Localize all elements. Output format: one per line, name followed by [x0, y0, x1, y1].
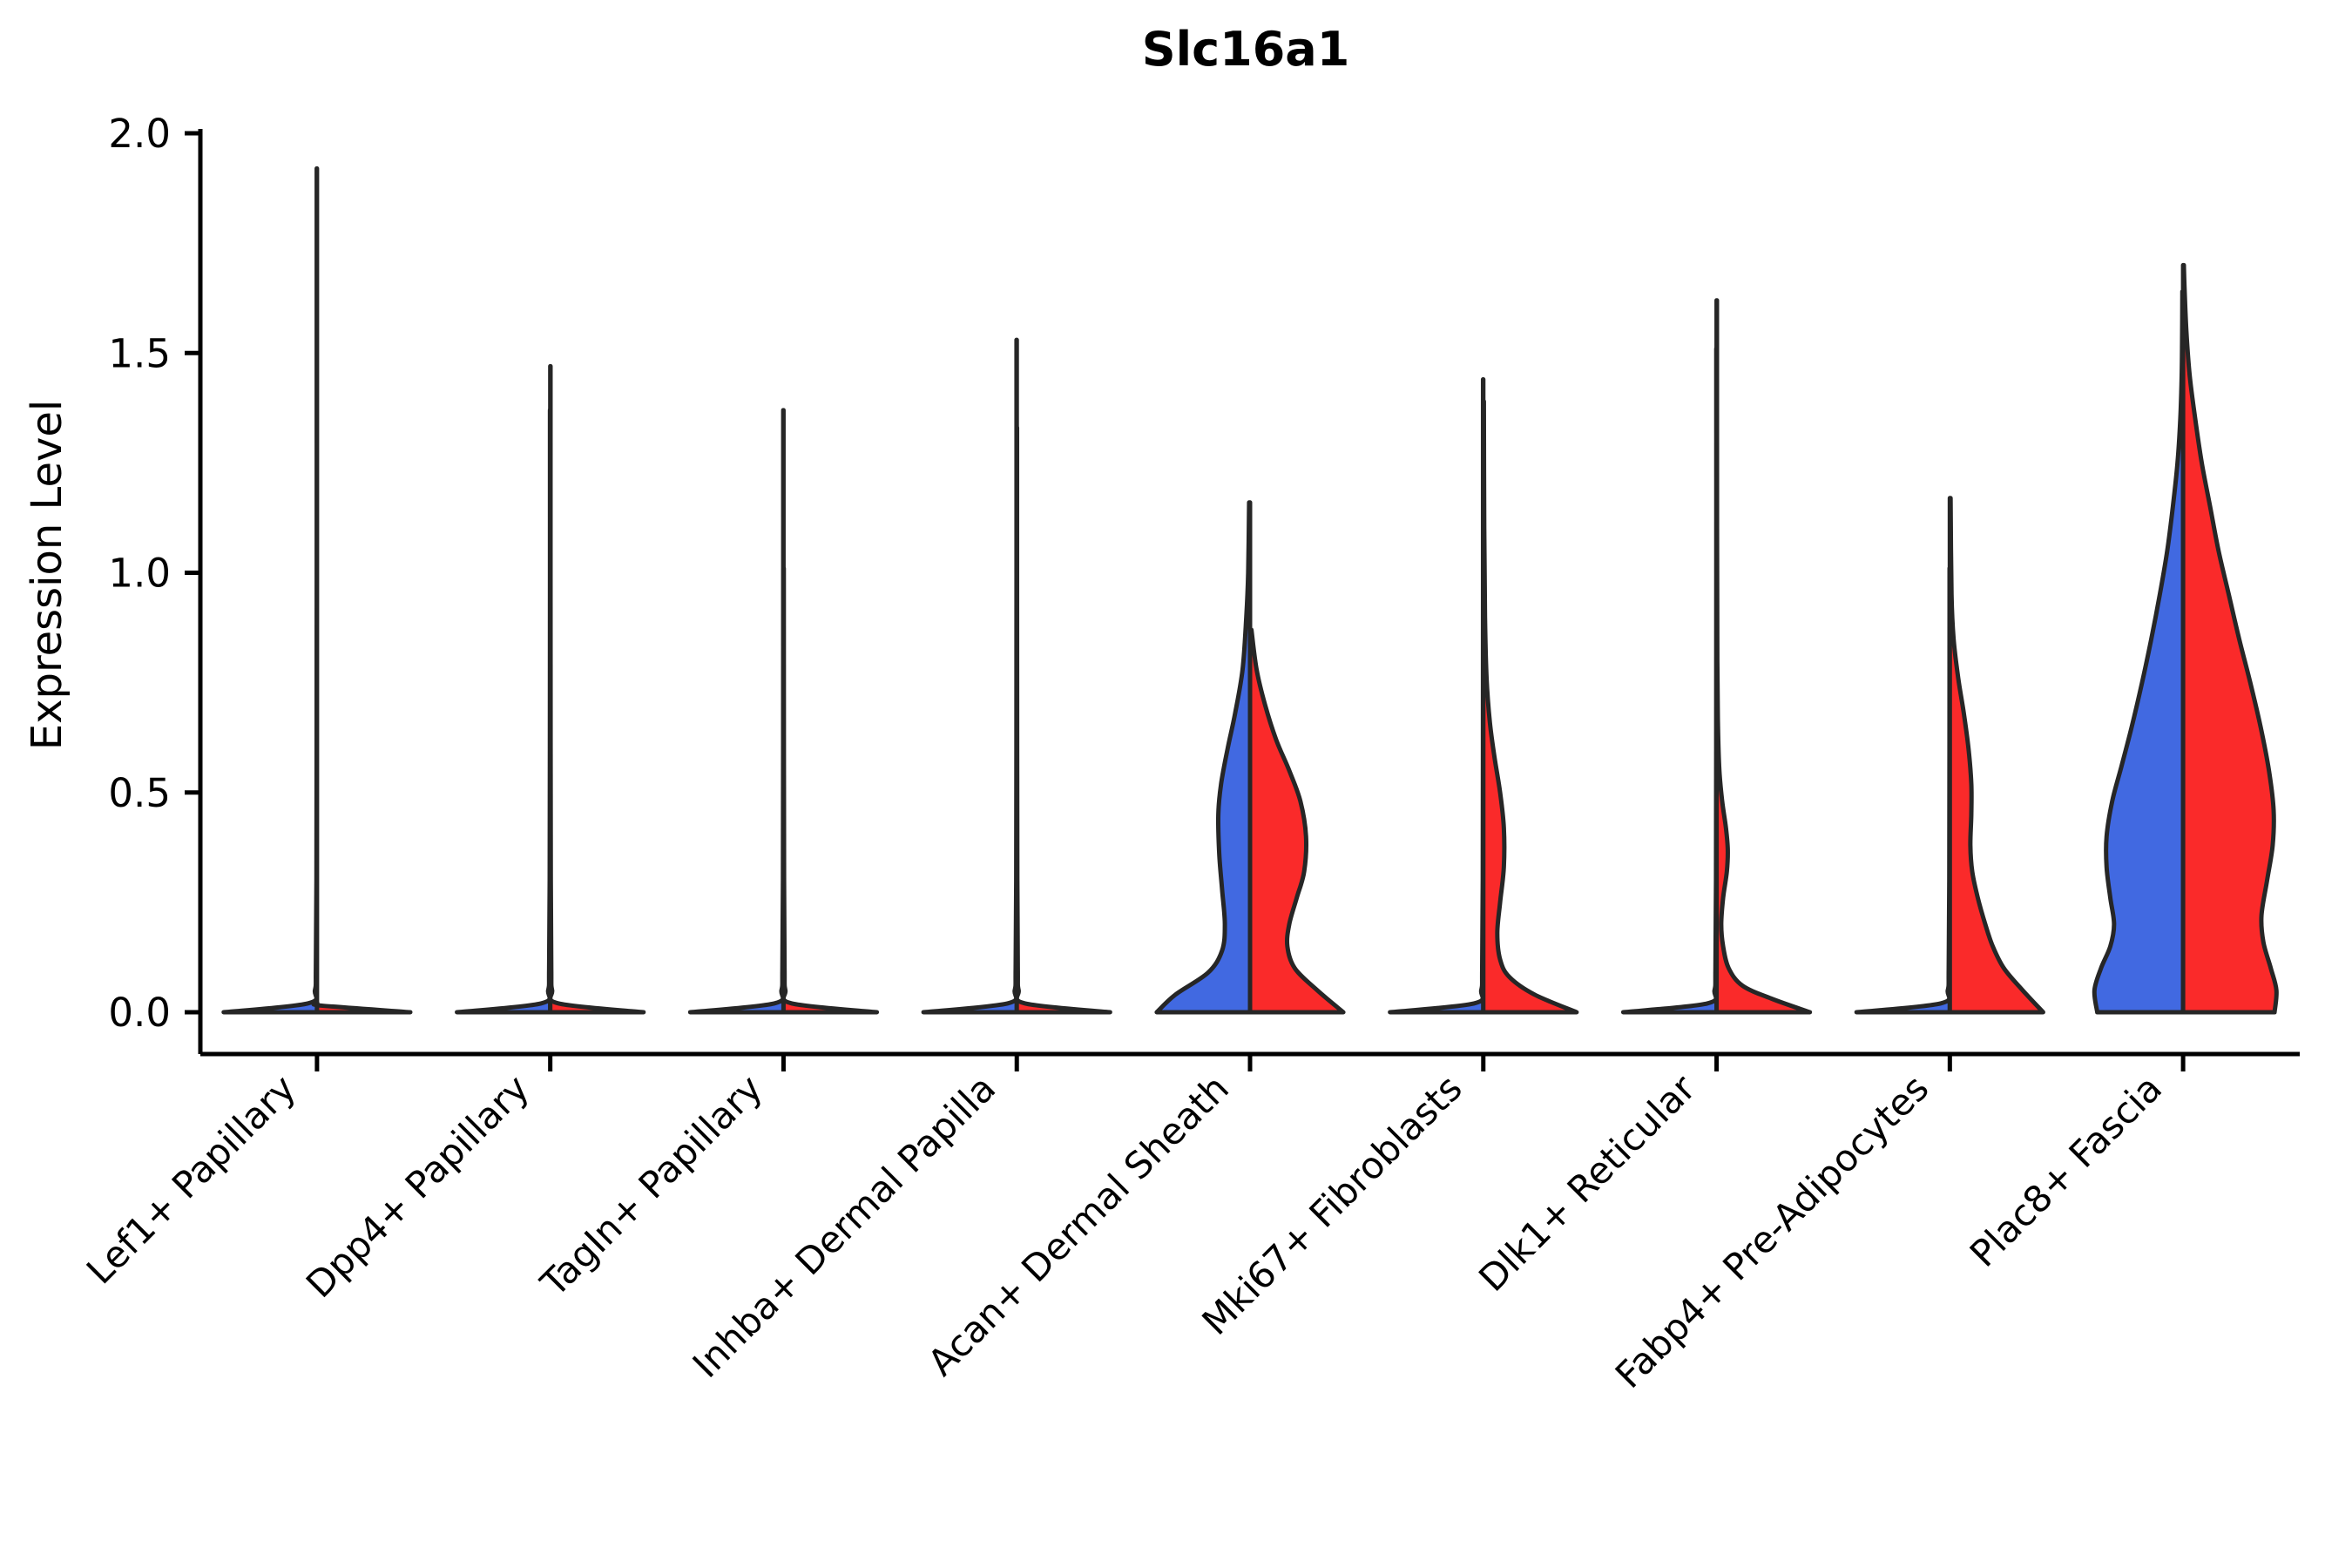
y-tick-label: 0.0 [108, 990, 171, 1036]
y-tick-label: 1.0 [108, 551, 171, 597]
y-axis-label: Expression Level [23, 400, 71, 751]
violin-shape [550, 366, 643, 1012]
violin-shape [1717, 301, 1810, 1012]
violin-shape [224, 168, 317, 1012]
x-tick-label: Dlk1+ Reticular [1470, 1066, 1704, 1300]
violin-shape [1484, 402, 1577, 1012]
y-axis-ticks: 0.00.51.01.52.0 [108, 111, 200, 1036]
violin-shape [1950, 498, 2043, 1012]
y-tick-label: 2.0 [108, 111, 171, 157]
violin-plot-canvas: Slc16a1 Expression Level 0.00.51.01.52.0… [0, 0, 2352, 1568]
chart-title: Slc16a1 [1142, 22, 1350, 77]
violin-plot-figure: Slc16a1 Expression Level 0.00.51.01.52.0… [0, 0, 2352, 1568]
violin-shape [1390, 380, 1484, 1012]
violin-shape [1856, 568, 1950, 1012]
x-tick-label: Lef1+ Papillary [78, 1066, 304, 1292]
x-tick-label: TagIn+ Papillary [532, 1066, 771, 1305]
violin-shape [1250, 630, 1343, 1012]
violin-shape [2183, 265, 2276, 1012]
violin-shape [314, 1004, 410, 1012]
violin-shape [1017, 428, 1110, 1012]
x-tick-label: Mki67+ Fibroblasts [1193, 1066, 1470, 1342]
violin-shape [923, 340, 1017, 1012]
violin-shape [1623, 348, 1716, 1012]
x-axis-ticks [317, 1054, 2183, 1071]
x-axis-tick-labels: Lef1+ PapillaryDpp4+ PapillaryTagIn+ Pap… [78, 1066, 2170, 1396]
violin-shape [2094, 292, 2183, 1012]
violin-series-group [224, 168, 2277, 1012]
y-tick-label: 1.5 [108, 330, 171, 376]
violin-shape [457, 410, 551, 1012]
violin-shape [1157, 503, 1250, 1012]
y-tick-label: 0.5 [108, 770, 171, 816]
x-tick-label: Dpp4+ Papillary [298, 1066, 537, 1306]
violin-shape [783, 568, 876, 1012]
x-tick-label: Plac8+ Fascia [1962, 1066, 2170, 1274]
violin-shape [690, 410, 783, 1012]
